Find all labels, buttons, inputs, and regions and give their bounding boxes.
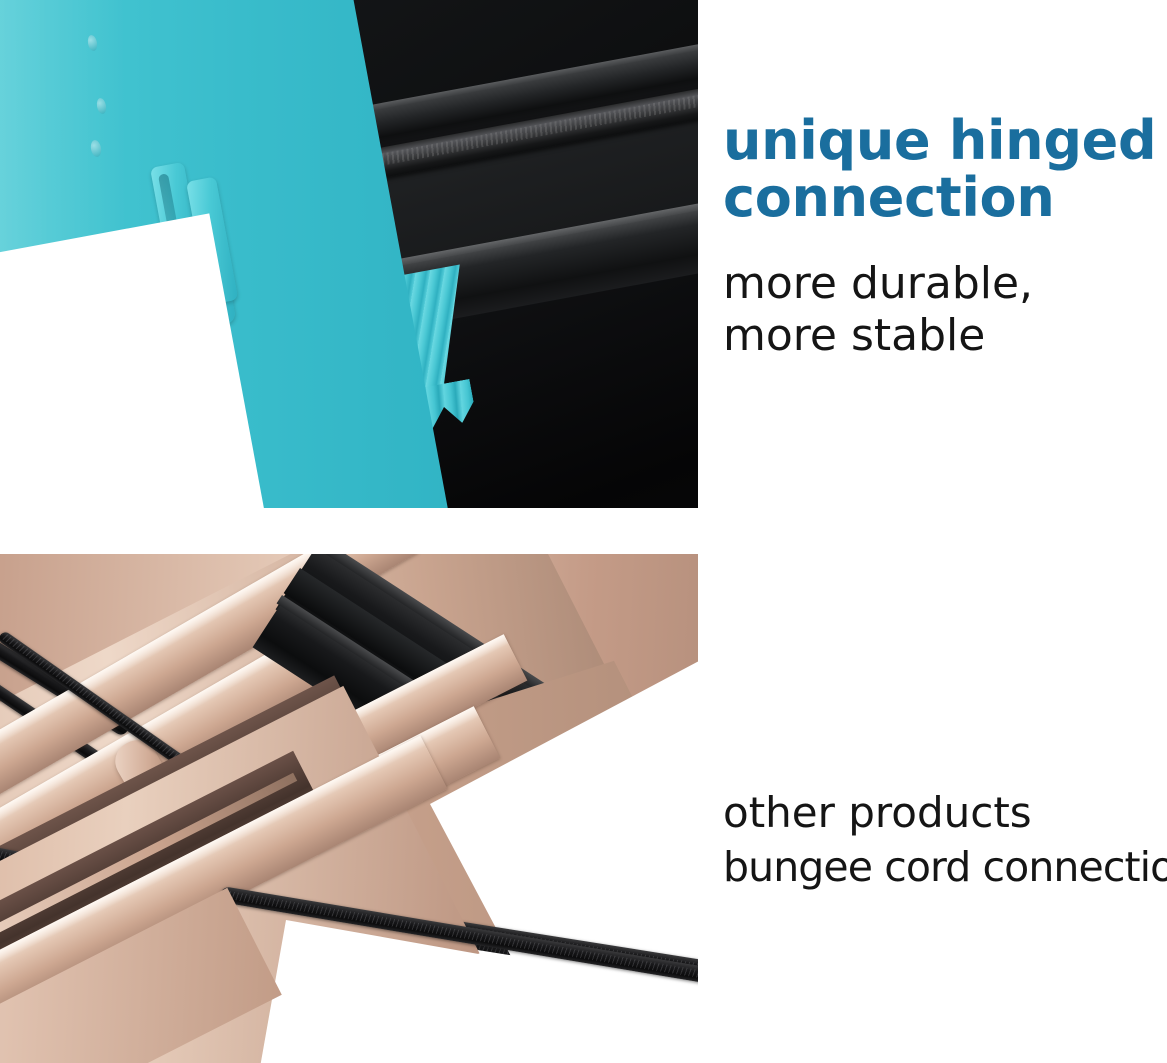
- comparison-text-block: other products bungee cord connection: [723, 786, 1163, 894]
- subtext-line-1: more durable,: [723, 258, 1153, 310]
- top-photo-scene: [0, 0, 698, 508]
- comparison-line-2: bungee cord connection: [723, 841, 1163, 894]
- comparison-line-1: other products: [723, 786, 1163, 841]
- headline-line-1: unique hinged: [723, 112, 1153, 169]
- headline-block: unique hinged connection: [723, 112, 1153, 226]
- subtext-block: more durable, more stable: [723, 258, 1153, 362]
- headline-line-2: connection: [723, 169, 1153, 226]
- hinged-connection-photo: [0, 0, 698, 508]
- infographic-canvas: unique hinged connection more durable, m…: [0, 0, 1167, 1063]
- bottom-photo-scene: [0, 554, 698, 1063]
- bungee-connection-photo: [0, 554, 698, 1063]
- subtext-line-2: more stable: [723, 310, 1153, 362]
